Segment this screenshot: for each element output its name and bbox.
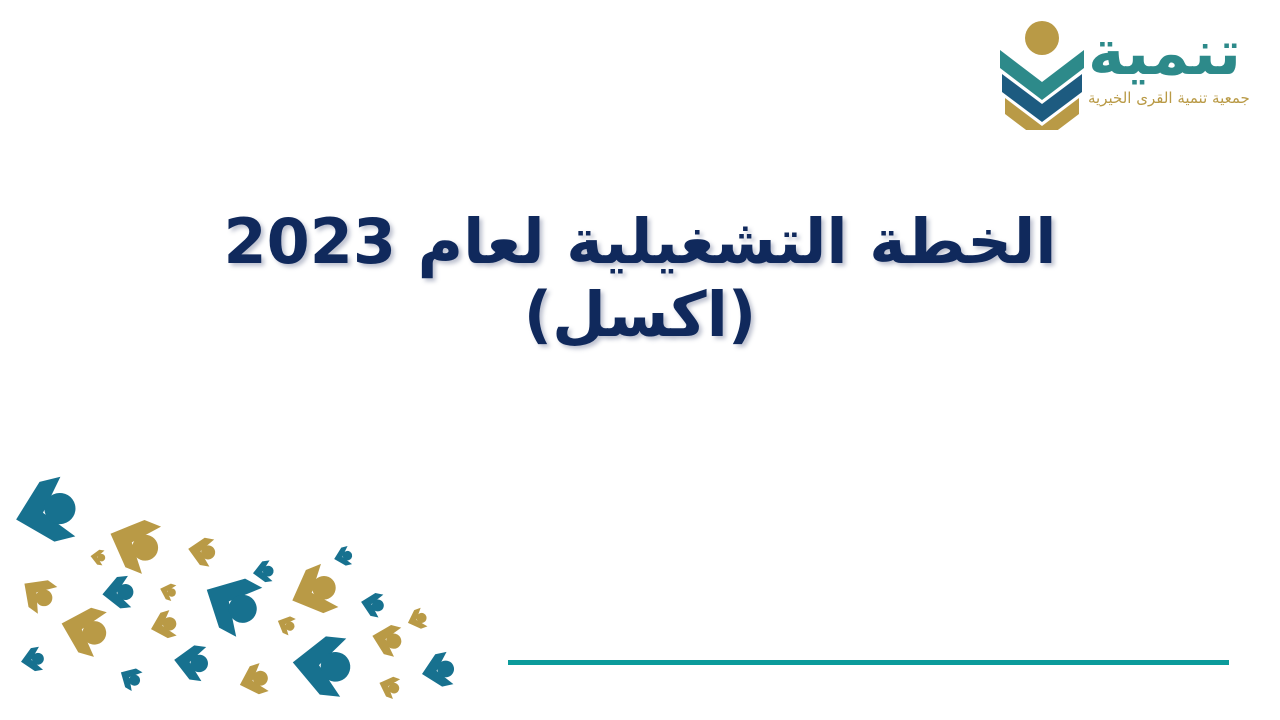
pattern-person-glyph [101,510,167,576]
pattern-person-glyph [284,562,344,622]
pattern-person-glyph [419,651,458,690]
pattern-person-glyph [9,475,83,549]
pattern-person-glyph [235,662,272,699]
pattern-person-glyph [172,643,211,682]
pattern-person-glyph [15,570,61,616]
pattern-person-glyph [186,535,218,567]
wheat-person-emblem-icon [996,18,1088,130]
title-line-2: (اكسل) [0,278,1280,351]
logo-wordmark: تنمية [1088,24,1241,83]
pattern-person-glyph [252,560,275,584]
pattern-person-glyph [101,576,135,611]
organization-logo: تنمية جمعية تنمية القرى الخيرية [988,18,1238,148]
logo-subtitle: جمعية تنمية القرى الخيرية [1088,89,1250,107]
pattern-person-glyph [359,590,386,618]
pattern-person-glyph [19,646,46,673]
accent-rule [508,660,1229,665]
pattern-person-glyph [55,601,112,658]
decorative-person-pattern [0,462,480,720]
pattern-person-glyph [332,545,354,567]
pattern-person-glyph [290,633,354,697]
pattern-person-glyph [158,581,179,602]
pattern-person-glyph [274,613,298,637]
pattern-person-glyph [90,549,107,566]
logo-text-block: تنمية جمعية تنمية القرى الخيرية [1088,18,1250,107]
pattern-person-glyph [147,609,179,642]
title-slide: تنمية جمعية تنمية القرى الخيرية الخطة ال… [0,0,1280,720]
title-line-1: الخطة التشغيلية لعام 2023 [0,205,1280,278]
pattern-person-glyph [369,621,405,657]
pattern-person-glyph [405,607,430,632]
page-title: الخطة التشغيلية لعام 2023 (اكسل) [0,205,1280,351]
pattern-person-glyph [115,663,144,692]
pattern-person-glyph [376,673,403,700]
pattern-person-glyph [194,565,268,640]
